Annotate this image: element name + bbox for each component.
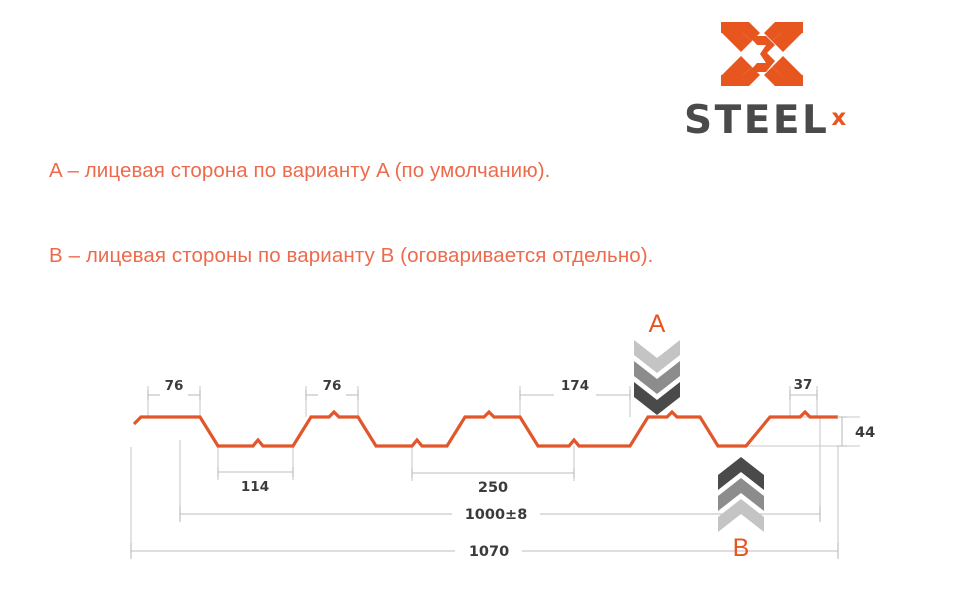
dimension-label-114: 114 xyxy=(241,479,269,495)
dimension-label-76-mid: 76 xyxy=(323,378,342,394)
dimension-edge-37: 37 xyxy=(790,377,817,400)
chevrons-up-icon xyxy=(718,457,764,532)
dimension-height-44: 44 xyxy=(837,417,875,446)
dimension-pitch-174: 174 xyxy=(520,378,630,400)
dimension-crest-left-76: 76 xyxy=(148,378,200,400)
profile-technical-drawing: 76 76 174 37 114 250 xyxy=(0,0,970,597)
dimension-pitch-250: 250 xyxy=(412,468,574,496)
dimension-label-44: 44 xyxy=(855,425,875,441)
marker-label-b: B xyxy=(733,534,750,562)
dimension-label-174: 174 xyxy=(561,378,589,394)
marker-side-b: B xyxy=(718,457,764,562)
steel-profile-section xyxy=(134,412,838,446)
dimension-label-1070: 1070 xyxy=(469,544,509,560)
chevrons-down-icon xyxy=(634,340,680,415)
dimension-label-1000: 1000±8 xyxy=(465,507,528,523)
marker-label-a: A xyxy=(649,310,666,338)
dimension-crest-mid-76: 76 xyxy=(306,378,358,400)
marker-side-a: A xyxy=(634,310,680,415)
dimension-valley-114: 114 xyxy=(218,467,293,495)
dimension-label-76-left: 76 xyxy=(165,378,184,394)
dimension-label-37: 37 xyxy=(794,377,813,393)
dimension-label-250: 250 xyxy=(478,480,508,496)
